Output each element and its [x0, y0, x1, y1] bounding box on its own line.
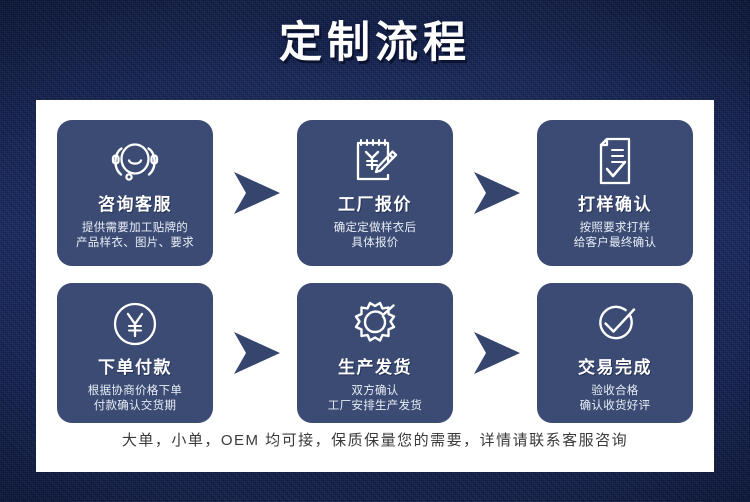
step-card-consult[interactable]: 咨询客服 提供需要加工贴牌的 产品样衣、图片、要求	[57, 120, 213, 266]
step-card-desc-line2: 工厂安排生产发货	[328, 399, 422, 414]
step-card-desc-line1: 确定定做样衣后	[334, 221, 417, 236]
step-card-desc-line1: 根据协商价格下单	[88, 384, 182, 399]
step-card-desc-line1: 按照要求打样	[574, 221, 657, 236]
arrow-step-1-to-2	[232, 170, 282, 221]
step-card-title: 交易完成	[578, 357, 652, 379]
step-card-transaction-complete[interactable]: 交易完成 验收合格 确认收货好评	[537, 283, 693, 423]
step-card-desc-line2: 产品样衣、图片、要求	[76, 236, 194, 251]
gear-icon	[349, 297, 401, 351]
step-card-order-payment[interactable]: 下单付款 根据协商价格下单 付款确认交货期	[57, 283, 213, 423]
step-card-title: 咨询客服	[98, 194, 172, 216]
step-card-desc-line2: 给客户最终确认	[574, 236, 657, 251]
step-card-desc: 双方确认 工厂安排生产发货	[328, 384, 422, 414]
arrow-step-4-to-5	[232, 330, 282, 381]
step-card-desc: 确定定做样衣后 具体报价	[334, 221, 417, 251]
step-card-desc: 提供需要加工贴牌的 产品样衣、图片、要求	[76, 221, 194, 251]
step-card-production-shipping[interactable]: 生产发货 双方确认 工厂安排生产发货	[297, 283, 453, 423]
step-card-title: 工厂报价	[338, 194, 412, 216]
document-check-icon	[592, 134, 638, 188]
step-card-desc: 验收合格 确认收货好评	[580, 384, 651, 414]
arrow-step-5-to-6	[472, 330, 522, 381]
step-card-desc-line2: 付款确认交货期	[88, 399, 182, 414]
step-card-title: 生产发货	[338, 357, 412, 379]
page-title: 定制流程	[0, 16, 750, 70]
step-card-title: 下单付款	[98, 357, 172, 379]
yuan-circle-icon	[110, 297, 160, 351]
step-card-desc: 根据协商价格下单 付款确认交货期	[88, 384, 182, 414]
step-card-sample-confirm[interactable]: 打样确认 按照要求打样 给客户最终确认	[537, 120, 693, 266]
footer-note: 大单，小单，OEM 均可接，保质保量您的需要，详情请联系客服咨询	[36, 429, 714, 450]
step-card-title: 打样确认	[578, 194, 652, 216]
step-card-desc-line2: 确认收货好评	[580, 399, 651, 414]
notepad-yuan-pencil-icon	[349, 134, 401, 188]
check-circle-icon	[589, 297, 641, 351]
step-card-desc-line1: 验收合格	[580, 384, 651, 399]
arrow-step-2-to-3	[472, 170, 522, 221]
step-card-desc-line2: 具体报价	[334, 236, 417, 251]
custom-process-banner: 定制流程 咨询客服 提供需要加工贴牌的 产品样衣、图片、要求	[0, 0, 750, 502]
step-card-desc-line1: 双方确认	[328, 384, 422, 399]
step-card-desc: 按照要求打样 给客户最终确认	[574, 221, 657, 251]
steps-panel: 咨询客服 提供需要加工贴牌的 产品样衣、图片、要求	[36, 100, 714, 472]
headset-customer-service-icon	[107, 134, 163, 188]
step-card-desc-line1: 提供需要加工贴牌的	[76, 221, 194, 236]
step-card-quotation[interactable]: 工厂报价 确定定做样衣后 具体报价	[297, 120, 453, 266]
